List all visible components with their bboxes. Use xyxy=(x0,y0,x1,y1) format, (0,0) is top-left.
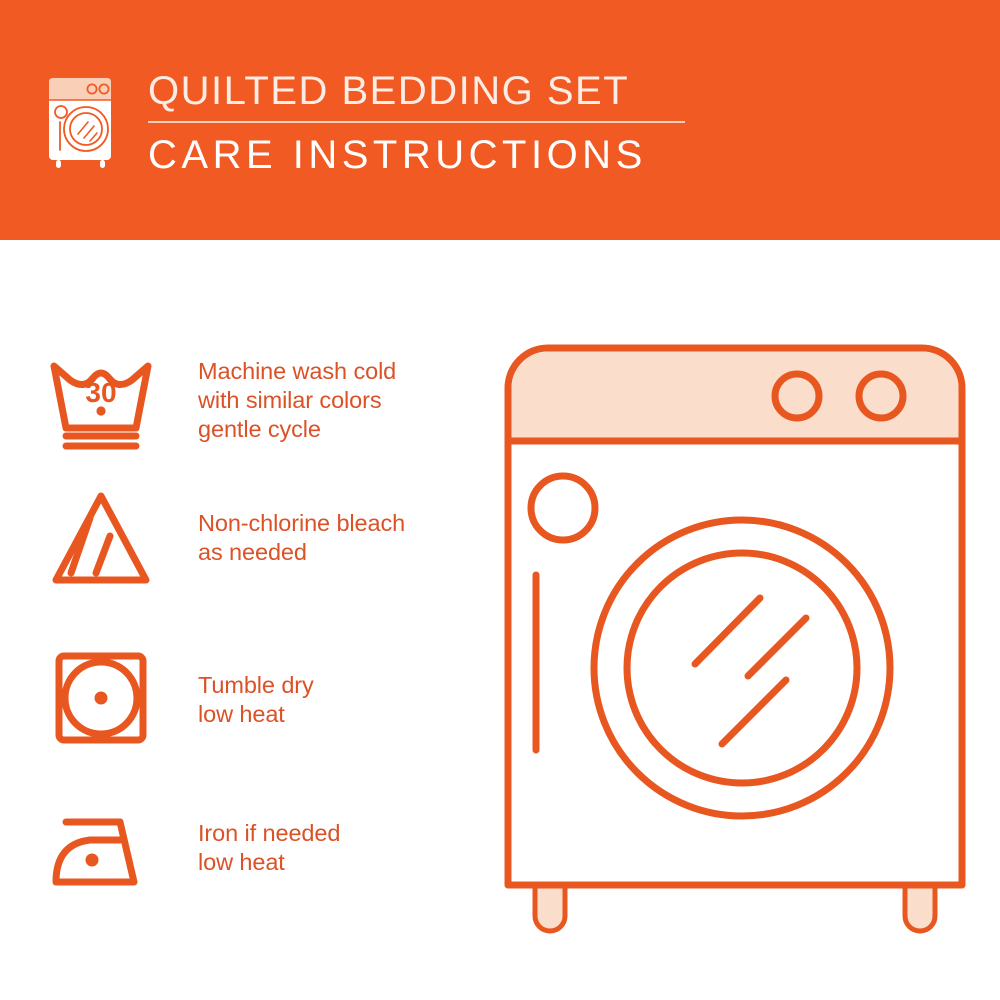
tumble-dry-low-heat-icon xyxy=(46,650,172,750)
care-line: Non-chlorine bleach xyxy=(198,509,405,538)
care-line: as needed xyxy=(198,538,405,567)
control-panel xyxy=(512,352,959,442)
care-line: gentle cycle xyxy=(198,415,396,444)
iron-low-heat-icon xyxy=(46,798,172,898)
title-divider xyxy=(148,121,685,123)
front-load-washing-machine-illustration xyxy=(490,330,980,940)
care-line: low heat xyxy=(198,700,314,729)
care-item-label: Non-chlorine bleach as needed xyxy=(198,509,405,567)
care-line: with similar colors xyxy=(198,386,396,415)
care-line: Machine wash cold xyxy=(198,357,396,386)
header-banner: QUILTED BEDDING SET CARE INSTRUCTIONS xyxy=(0,0,1000,240)
care-line: low heat xyxy=(198,848,340,877)
care-line: Tumble dry xyxy=(198,671,314,700)
care-instructions-list: 30 Machine wash cold with similar colors… xyxy=(0,240,490,1000)
care-item-label: Tumble dry low heat xyxy=(198,671,314,729)
wash-temperature-label: 30 xyxy=(85,377,116,408)
care-line: Iron if needed xyxy=(198,819,340,848)
page-subtitle: CARE INSTRUCTIONS xyxy=(148,132,708,178)
header-text-block: QUILTED BEDDING SET CARE INSTRUCTIONS xyxy=(148,68,708,178)
non-chlorine-bleach-triangle-icon xyxy=(46,488,172,588)
care-item-label: Machine wash cold with similar colors ge… xyxy=(198,357,396,444)
care-item-tumble-dry: Tumble dry low heat xyxy=(46,640,476,760)
care-item-bleach: Non-chlorine bleach as needed xyxy=(46,478,476,598)
page-title: QUILTED BEDDING SET xyxy=(148,68,708,114)
washing-machine-icon xyxy=(44,72,126,170)
care-item-machine-wash: 30 Machine wash cold with similar colors… xyxy=(46,340,476,460)
care-item-label: Iron if needed low heat xyxy=(198,819,340,877)
wash-tub-30-gentle-icon: 30 xyxy=(46,350,172,450)
care-item-iron: Iron if needed low heat xyxy=(46,788,476,908)
